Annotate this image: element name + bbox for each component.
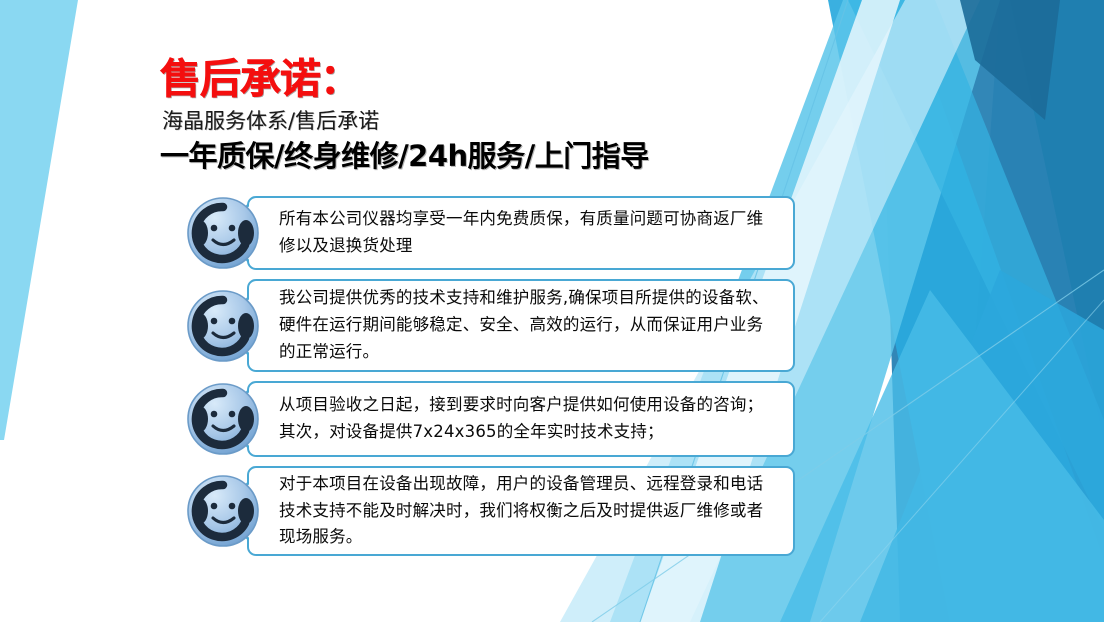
callout-text: 对于本项目在设备出现故障，用户的设备管理员、远程登录和电话技术支持不能及时解决时… bbox=[249, 462, 793, 560]
callout-box: 我公司提供优秀的技术支持和维护服务,确保项目所提供的设备软、硬件在运行期间能够稳… bbox=[247, 279, 795, 372]
list-item: 对于本项目在设备出现故障，用户的设备管理员、远程登录和电话技术支持不能及时解决时… bbox=[185, 466, 795, 556]
callout-text: 从项目验收之日起，接到要求时向客户提供如何使用设备的咨询；其次，对设备提供7x2… bbox=[249, 383, 793, 454]
slide-canvas: 售后承诺： 海晶服务体系/售后承诺 一年质保/终身维修/24h服务/上门指导 bbox=[0, 0, 1104, 622]
list-item: 所有本公司仪器均享受一年内免费质保，有质量问题可协商返厂维修以及退换货处理 bbox=[185, 196, 795, 270]
page-headline: 一年质保/终身维修/24h服务/上门指导 bbox=[160, 140, 780, 173]
callout-text: 我公司提供优秀的技术支持和维护服务,确保项目所提供的设备软、硬件在运行期间能够稳… bbox=[249, 276, 793, 374]
callout-box: 从项目验收之日起，接到要求时向客户提供如何使用设备的咨询；其次，对设备提供7x2… bbox=[247, 381, 795, 457]
page-subtitle: 海晶服务体系/售后承诺 bbox=[162, 109, 780, 133]
list-item: 我公司提供优秀的技术支持和维护服务,确保项目所提供的设备软、硬件在运行期间能够稳… bbox=[185, 279, 795, 372]
callout-box: 对于本项目在设备出现故障，用户的设备管理员、远程登录和电话技术支持不能及时解决时… bbox=[247, 466, 795, 556]
callout-text: 所有本公司仪器均享受一年内免费质保，有质量问题可协商返厂维修以及退换货处理 bbox=[249, 197, 793, 268]
header-block: 售后承诺： 海晶服务体系/售后承诺 一年质保/终身维修/24h服务/上门指导 bbox=[160, 58, 780, 174]
commitment-list: 所有本公司仪器均享受一年内免费质保，有质量问题可协商返厂维修以及退换货处理 bbox=[185, 196, 795, 565]
list-item: 从项目验收之日起，接到要求时向客户提供如何使用设备的咨询；其次，对设备提供7x2… bbox=[185, 381, 795, 457]
page-title-red: 售后承诺： bbox=[160, 58, 780, 101]
callout-box: 所有本公司仪器均享受一年内免费质保，有质量问题可协商返厂维修以及退换货处理 bbox=[247, 196, 795, 270]
